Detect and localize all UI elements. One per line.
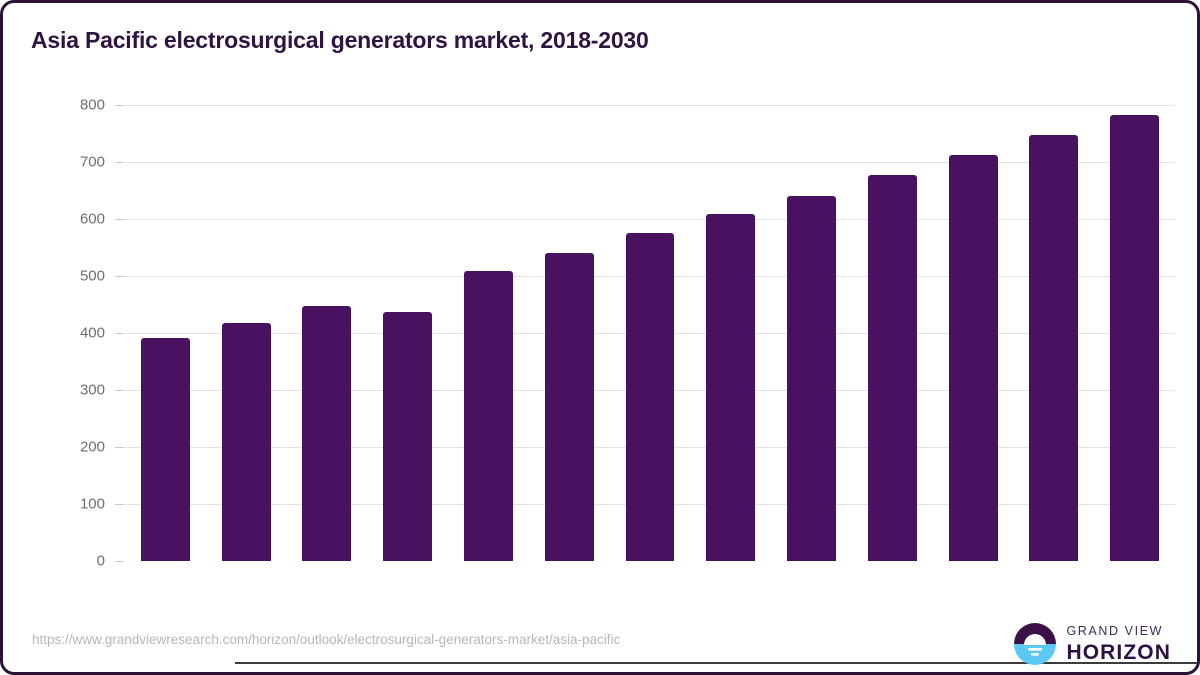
bar-2019[interactable]: [222, 323, 271, 561]
y-tick-mark: [115, 276, 124, 277]
brand-line-horizon: HORIZON: [1066, 642, 1171, 663]
y-tick-label: 200: [33, 439, 105, 456]
y-tick-mark: [115, 162, 124, 163]
plot-area: Market Size (US$M) 010020030040050060070…: [125, 105, 1175, 561]
y-tick-label: 0: [33, 553, 105, 570]
y-tick-mark: [115, 561, 124, 562]
bar-2026[interactable]: [787, 196, 836, 561]
bar-2022[interactable]: [464, 271, 513, 561]
bar-2024[interactable]: [626, 233, 675, 561]
bar-2027[interactable]: [868, 175, 917, 561]
bar-series: [125, 105, 1175, 561]
y-tick-mark: [115, 390, 124, 391]
y-tick-label: 300: [33, 382, 105, 399]
bar-2025[interactable]: [706, 214, 755, 561]
y-tick-label: 800: [33, 97, 105, 114]
y-tick-mark: [115, 504, 124, 505]
bar-2020[interactable]: [302, 306, 351, 561]
brand-wordmark: GRAND VIEW HORIZON: [1066, 625, 1171, 663]
source-url[interactable]: https://www.grandviewresearch.com/horizo…: [32, 632, 620, 647]
chart-page: Asia Pacific electrosurgical generators …: [0, 0, 1200, 675]
bar-2021[interactable]: [383, 312, 432, 561]
y-tick-mark: [115, 219, 124, 220]
y-tick-label: 600: [33, 211, 105, 228]
y-tick-mark: [115, 447, 124, 448]
y-tick-mark: [115, 333, 124, 334]
grand-view-horizon-logo-icon: [1013, 622, 1057, 666]
y-tick-label: 400: [33, 325, 105, 342]
y-tick-label: 700: [33, 154, 105, 171]
bar-2029[interactable]: [1029, 135, 1078, 561]
page-title: Asia Pacific electrosurgical generators …: [31, 27, 649, 54]
brand-line-grand-view: GRAND VIEW: [1066, 625, 1171, 638]
y-tick-mark: [115, 105, 124, 106]
bar-2018[interactable]: [141, 338, 190, 561]
bar-2023[interactable]: [545, 253, 594, 561]
y-tick-label: 100: [33, 496, 105, 513]
brand-logo: GRAND VIEW HORIZON: [1013, 622, 1171, 666]
bar-2030[interactable]: [1110, 115, 1159, 561]
y-tick-label: 500: [33, 268, 105, 285]
bar-2028[interactable]: [949, 155, 998, 561]
